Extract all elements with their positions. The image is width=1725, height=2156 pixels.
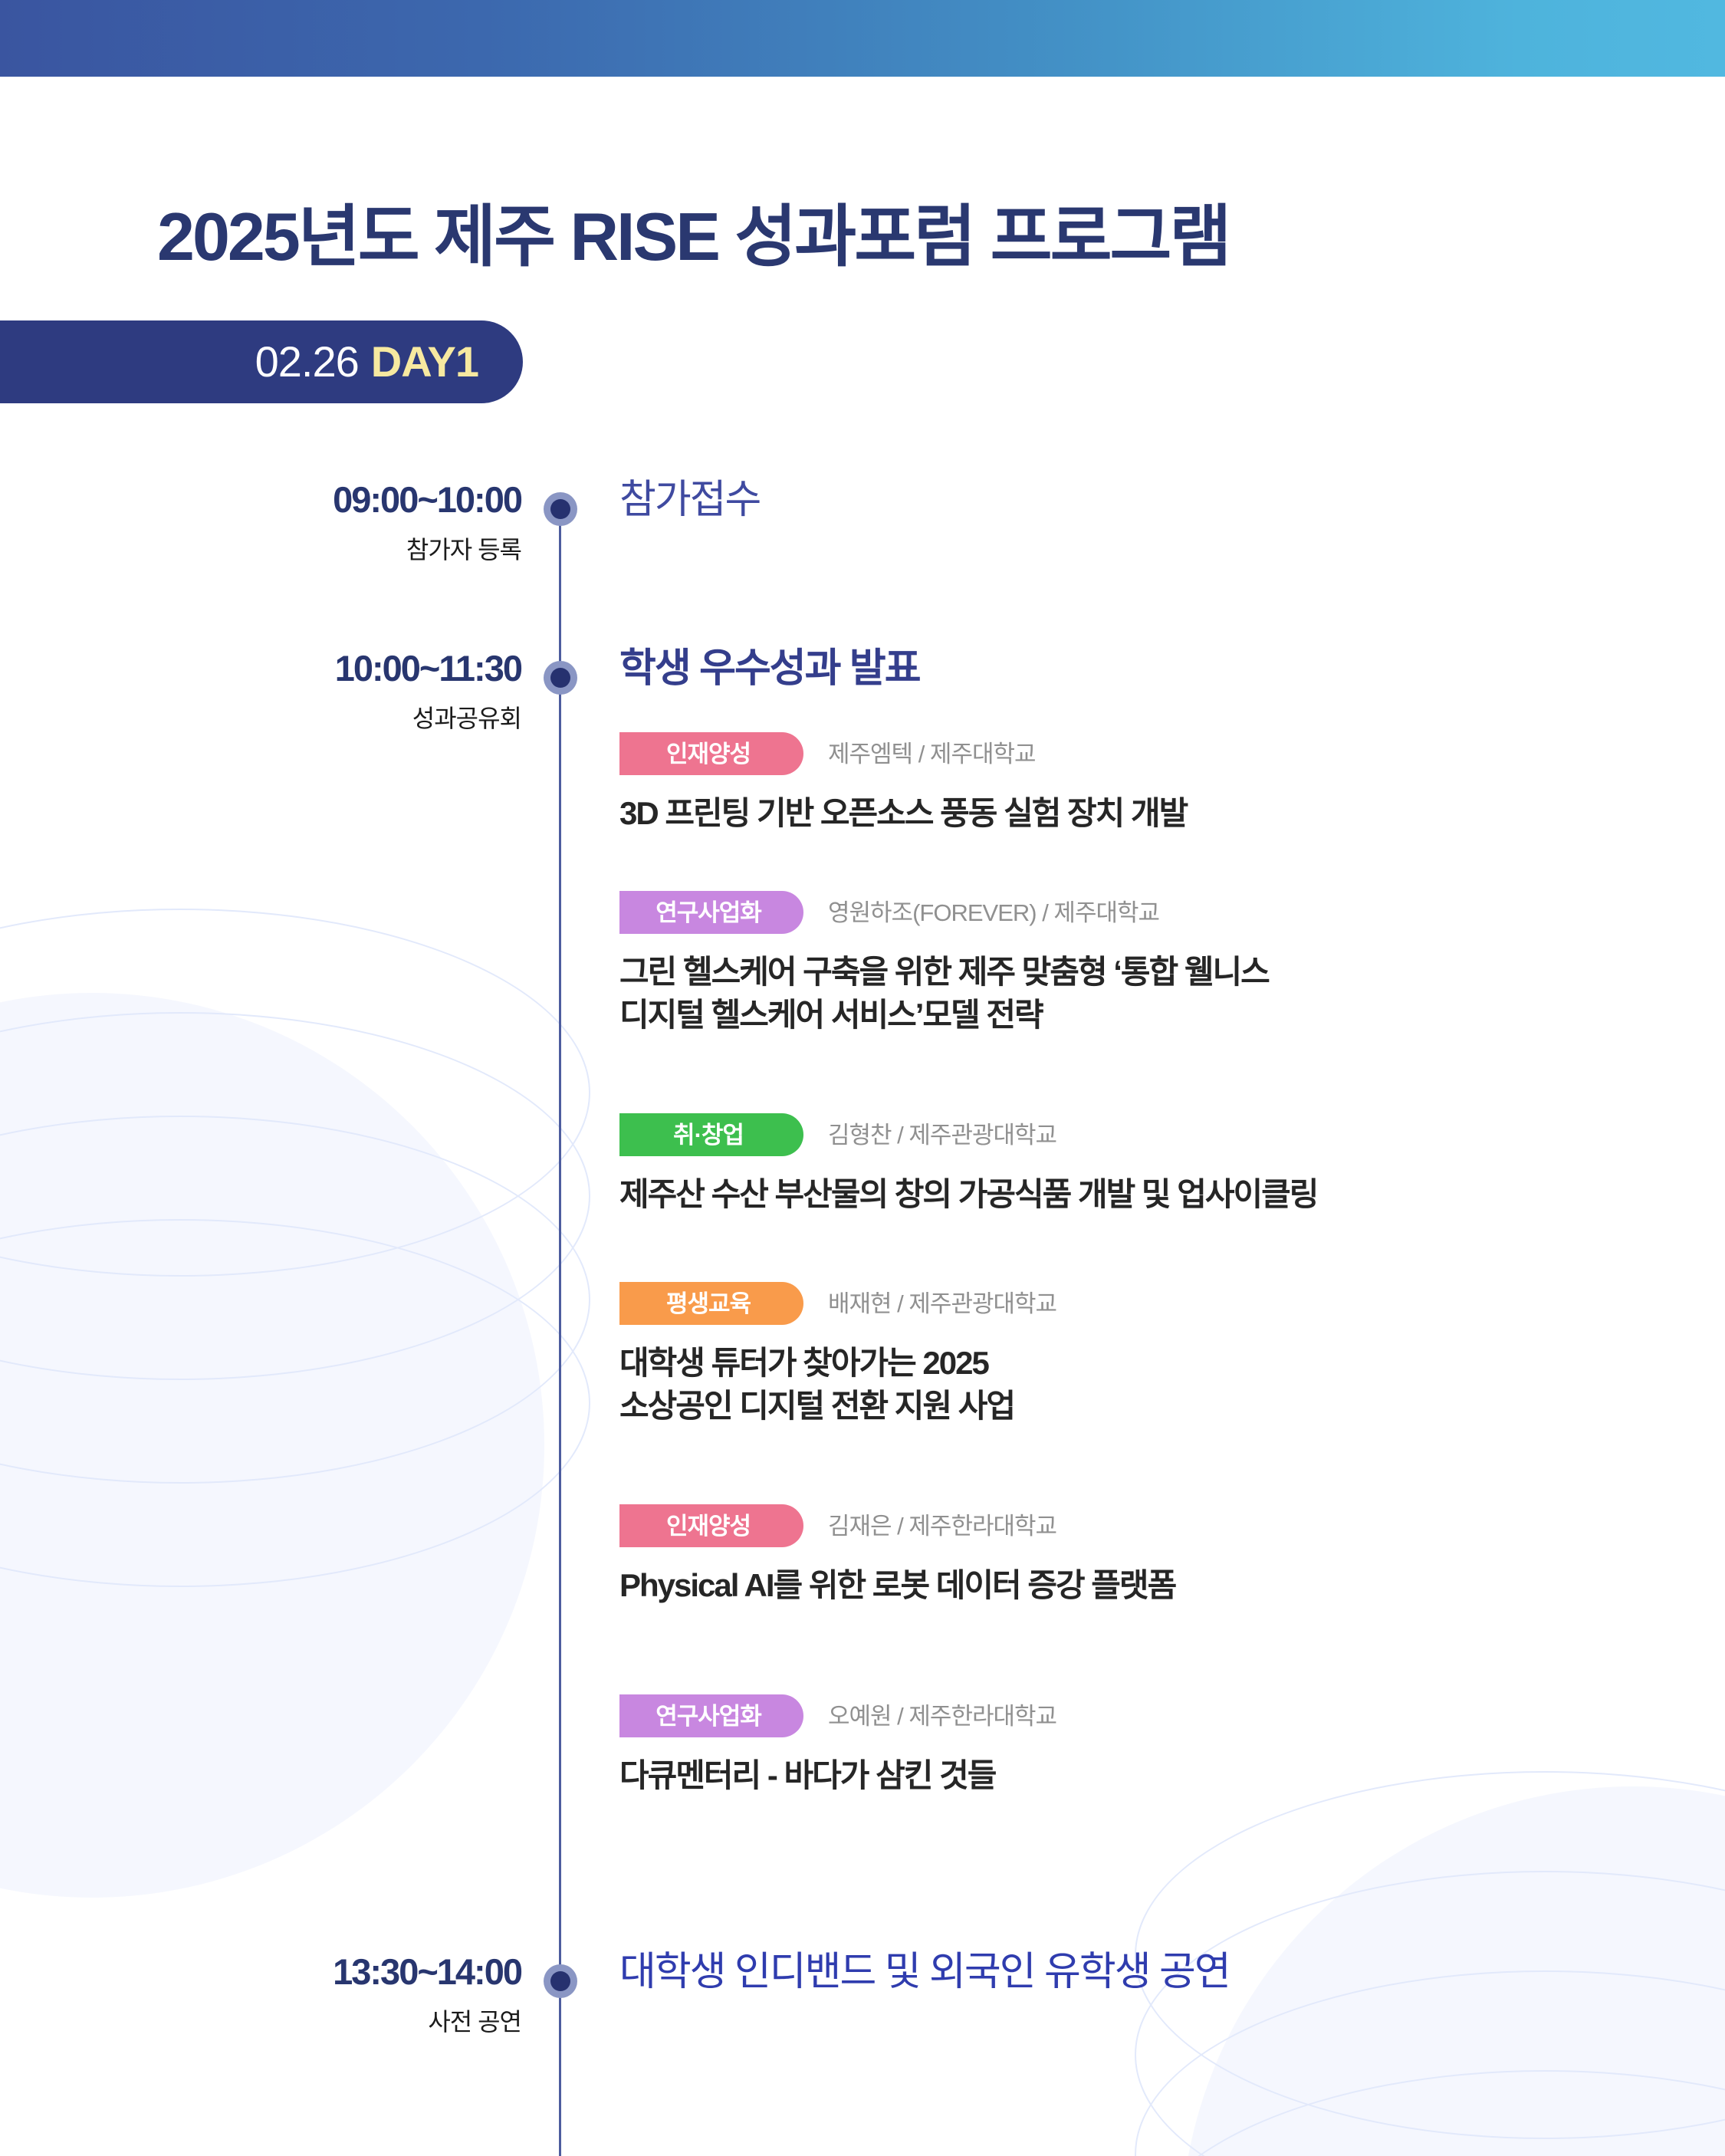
talk-title: 그린 헬스케어 구축을 위한 제주 맞춤형 ‘통합 웰니스 디지털 헬스케어 서… [619,951,1693,1037]
talk-title: Physical AI를 위한 로봇 데이터 증강 플랫폼 [619,1564,1693,1607]
schedule-time: 13:30~14:00 [0,1954,521,1990]
talk-title: 대학생 튜터가 찾아가는 2025 소상공인 디지털 전환 지원 사업 [619,1342,1693,1428]
talk-presenter: 오예원 / 제주한라대학교 [828,1704,1056,1728]
talk-presenter: 김재은 / 제주한라대학교 [828,1514,1056,1538]
decorative-ring-left-4 [0,1219,590,1587]
timeline-dot [544,661,577,695]
talk-item: 연구사업화영원하조(FOREVER) / 제주대학교그린 헬스케어 구축을 위한… [619,891,1693,1037]
decorative-ring-left-1 [0,909,590,1277]
talk-presenter: 배재현 / 제주관광대학교 [828,1292,1056,1316]
schedule-content-block: 학생 우수성과 발표 [619,649,1693,689]
session-heading: 대학생 인디밴드 및 외국인 유학생 공연 [619,1952,1693,1992]
decorative-ring-right-2 [1135,1871,1725,2156]
talk-item: 인재양성김재은 / 제주한라대학교Physical AI를 위한 로봇 데이터 … [619,1504,1693,1607]
timeline-dot [544,492,577,526]
timeline-dot-inner [550,668,570,688]
session-heading: 학생 우수성과 발표 [619,649,1693,689]
top-gradient-bar [0,0,1725,77]
schedule-time: 10:00~11:30 [0,650,521,686]
talk-item: 평생교육배재현 / 제주관광대학교대학생 튜터가 찾아가는 2025 소상공인 … [619,1282,1693,1428]
talk-item: 취·창업김형찬 / 제주관광대학교제주산 수산 부산물의 창의 가공식품 개발 … [619,1113,1693,1216]
talk-title: 다큐멘터리 - 바다가 삼킨 것들 [619,1754,1693,1797]
schedule-time-block: 09:00~10:00참가자 등록 [0,481,521,562]
talk-item: 연구사업화오예원 / 제주한라대학교다큐멘터리 - 바다가 삼킨 것들 [619,1694,1693,1797]
talk-item: 인재양성제주엠텍 / 제주대학교3D 프린팅 기반 오픈소스 풍동 실험 장치 … [619,732,1693,835]
page-title: 2025년도 제주 RISE 성과포럼 프로그램 [157,182,1229,280]
decorative-ring-left-3 [0,1116,590,1484]
talk-presenter: 영원하조(FOREVER) / 제주대학교 [828,901,1159,925]
day-badge-label: DAY1 [371,340,478,383]
talk-category-badge: 연구사업화 [619,891,803,934]
timeline-dot-inner [550,1971,570,1991]
decorative-ring-right-4 [1135,2070,1725,2156]
talk-meta-row: 취·창업김형찬 / 제주관광대학교 [619,1113,1693,1156]
talk-meta-row: 인재양성김재은 / 제주한라대학교 [619,1504,1693,1547]
timeline-dot-inner [550,499,570,519]
talk-meta-row: 인재양성제주엠텍 / 제주대학교 [619,732,1693,775]
decorative-ring-right-3 [1135,1970,1725,2156]
talk-meta-row: 평생교육배재현 / 제주관광대학교 [619,1282,1693,1325]
timeline-dot [544,1964,577,1998]
schedule-time-block: 13:30~14:00사전 공연 [0,1954,521,2034]
talk-meta-row: 연구사업화오예원 / 제주한라대학교 [619,1694,1693,1737]
schedule-time-subtitle: 성과공유회 [0,706,521,731]
decorative-blob-left [0,993,544,1898]
program-poster: 2025년도 제주 RISE 성과포럼 프로그램 02.26 DAY1 09:0… [0,0,1725,2156]
timeline-rail [559,506,561,2156]
session-heading: 참가접수 [619,480,1693,520]
talk-title: 제주산 수산 부산물의 창의 가공식품 개발 및 업사이클링 [619,1173,1693,1216]
day-badge: 02.26 DAY1 [0,320,523,403]
talk-category-badge: 인재양성 [619,732,803,775]
day-badge-date: 02.26 [255,340,359,383]
talk-category-badge: 평생교육 [619,1282,803,1325]
talk-category-badge: 연구사업화 [619,1694,803,1737]
schedule-content-block: 대학생 인디밴드 및 외국인 유학생 공연 [619,1952,1693,1992]
talk-category-badge: 인재양성 [619,1504,803,1547]
talk-title: 3D 프린팅 기반 오픈소스 풍동 실험 장치 개발 [619,792,1693,835]
schedule-time-block: 10:00~11:30성과공유회 [0,650,521,731]
schedule-content-block: 참가접수 [619,480,1693,520]
talk-presenter: 제주엠텍 / 제주대학교 [828,742,1036,766]
schedule-time-subtitle: 참가자 등록 [0,537,521,562]
talk-presenter: 김형찬 / 제주관광대학교 [828,1123,1056,1147]
talk-meta-row: 연구사업화영원하조(FOREVER) / 제주대학교 [619,891,1693,934]
decorative-ring-left-2 [0,1012,590,1380]
talk-category-badge: 취·창업 [619,1113,803,1156]
schedule-time-subtitle: 사전 공연 [0,2010,521,2034]
schedule-time: 09:00~10:00 [0,481,521,518]
